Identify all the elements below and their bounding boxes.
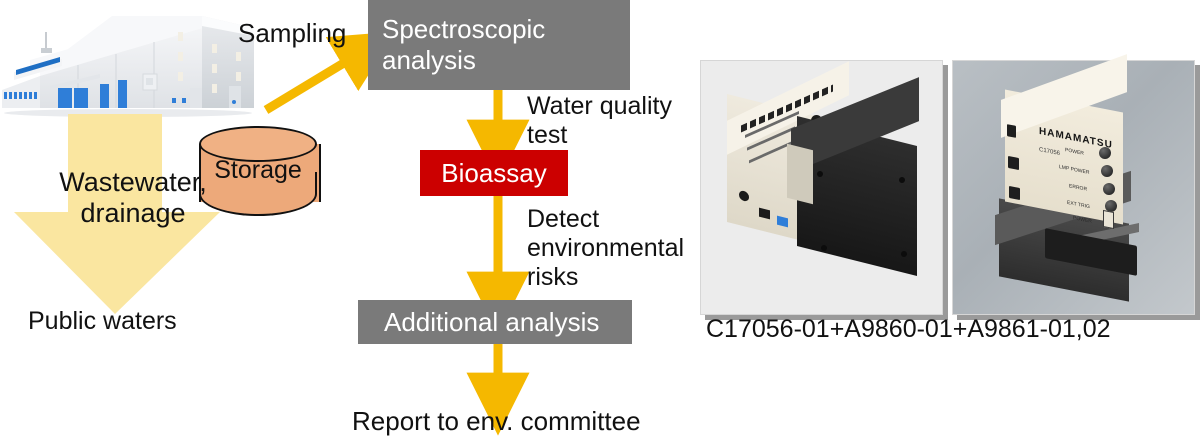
screw-1 [817, 171, 823, 177]
flow-step-spectroscopic-analysis[interactable]: Spectroscopic analysis [368, 0, 630, 90]
screw-3 [821, 245, 827, 251]
error-led [1103, 183, 1115, 195]
flow-step-additional-analysis[interactable]: Additional analysis [358, 300, 632, 344]
sampling-arrow [266, 52, 362, 110]
edge-label-detect-environmental-risks: Detect environmental risks [527, 205, 684, 292]
product-caption: C17056-01+A9860-01+A9861-01,02 [706, 315, 1176, 344]
factory-illustration [0, 14, 258, 118]
flow-step-label: Spectroscopic analysis [382, 14, 630, 76]
sample-slot [787, 144, 813, 204]
lamp-power-led [1101, 165, 1113, 177]
product-photo-left[interactable] [700, 60, 943, 315]
product-photo-right[interactable]: HAMAMATSU C17056 POWER LMP POWER ERROR E… [952, 60, 1195, 315]
flow-step-label: Bioassay [441, 158, 547, 189]
edge-label-water-quality-test: Water quality test [527, 92, 672, 150]
side-port-3 [1009, 186, 1020, 200]
side-port-2 [1008, 156, 1019, 170]
flow-step-bioassay[interactable]: Bioassay [420, 150, 568, 196]
wastewater-drainage-label: Wastewater, drainage [40, 167, 226, 230]
flow-step-label: Additional analysis [384, 307, 599, 338]
public-waters-label: Public waters [28, 307, 177, 336]
side-port-1 [1007, 124, 1016, 138]
power-led [1099, 147, 1111, 159]
sampling-label: Sampling [238, 18, 346, 48]
report-to-env-committee-label: Report to env. committee [352, 406, 641, 436]
screw-2 [899, 177, 905, 183]
power-switch[interactable] [1103, 210, 1114, 229]
screw-4 [901, 251, 907, 257]
